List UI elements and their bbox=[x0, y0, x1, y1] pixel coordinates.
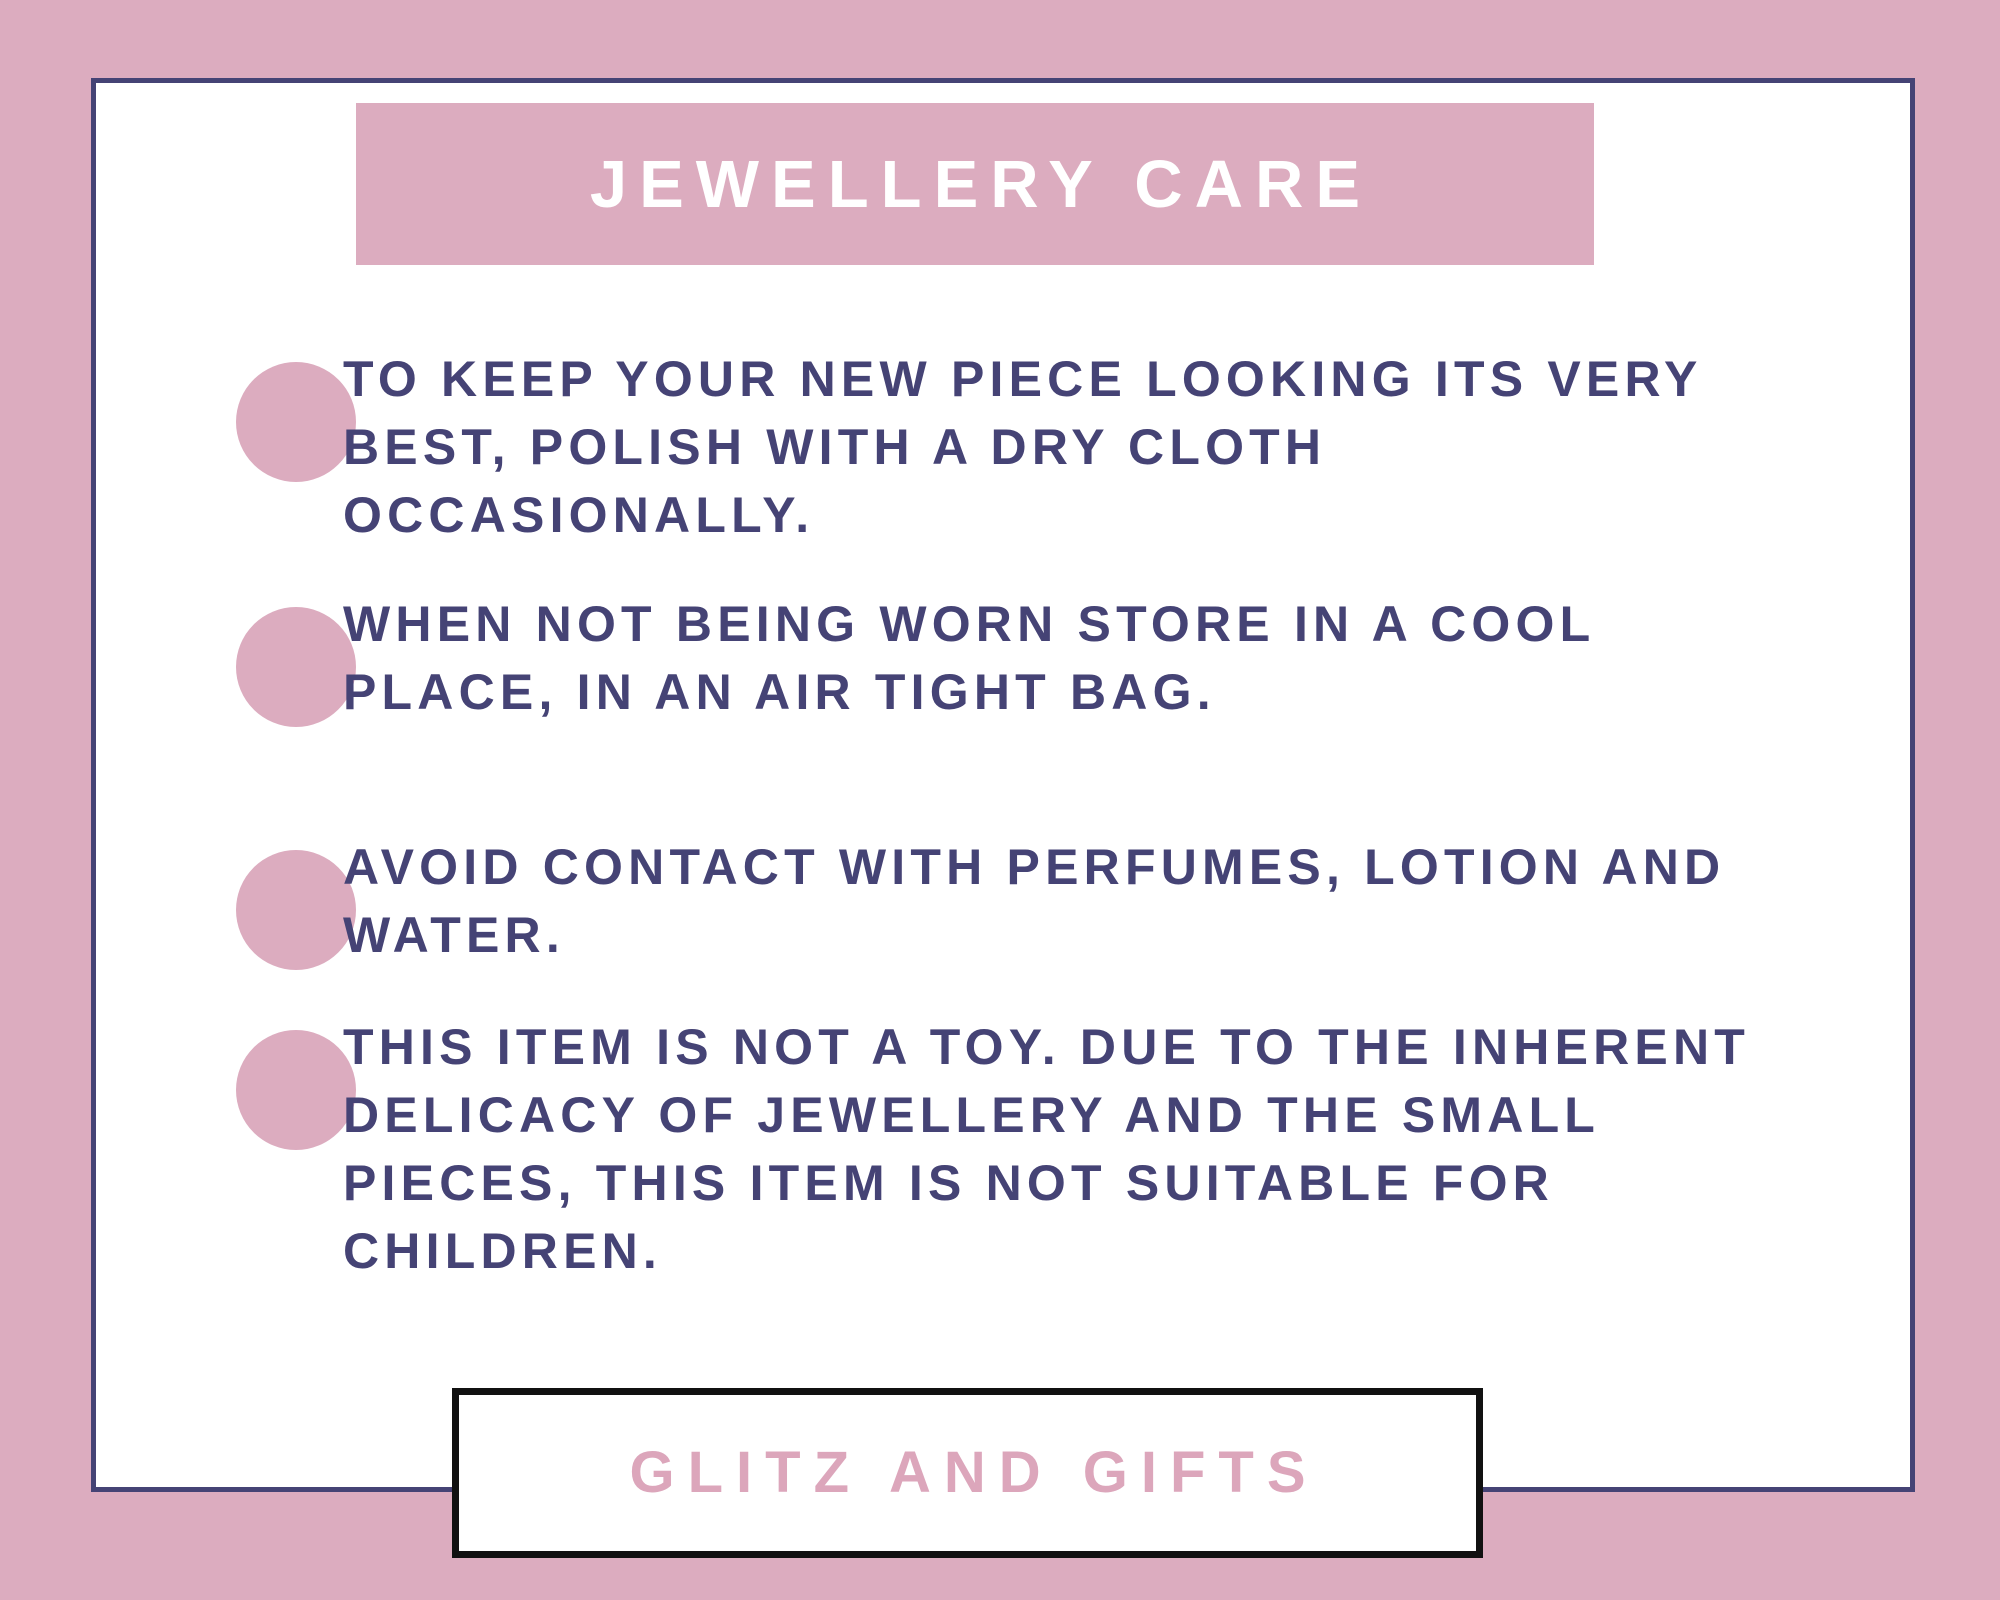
title-banner: JEWELLERY CARE bbox=[356, 103, 1594, 265]
page-title: JEWELLERY CARE bbox=[578, 151, 1372, 218]
brand-plaque: GLITZ AND GIFTS bbox=[452, 1388, 1483, 1558]
care-item-text: TO KEEP YOUR NEW PIECE LOOKING ITS VERY … bbox=[343, 345, 1793, 549]
card-canvas: JEWELLERY CARE TO KEEP YOUR NEW PIECE LO… bbox=[0, 0, 2000, 1600]
bullet-dot-icon bbox=[236, 1030, 356, 1150]
brand-name: GLITZ AND GIFTS bbox=[616, 1444, 1318, 1502]
bullet-dot-icon bbox=[236, 850, 356, 970]
bullet-dot-icon bbox=[236, 607, 356, 727]
care-item-text: WHEN NOT BEING WORN STORE IN A COOL PLAC… bbox=[343, 590, 1793, 726]
care-item-text: AVOID CONTACT WITH PERFUMES, LOTION AND … bbox=[343, 833, 1793, 969]
care-item-text: THIS ITEM IS NOT A TOY. DUE TO THE INHER… bbox=[343, 1013, 1793, 1285]
bullet-dot-icon bbox=[236, 362, 356, 482]
